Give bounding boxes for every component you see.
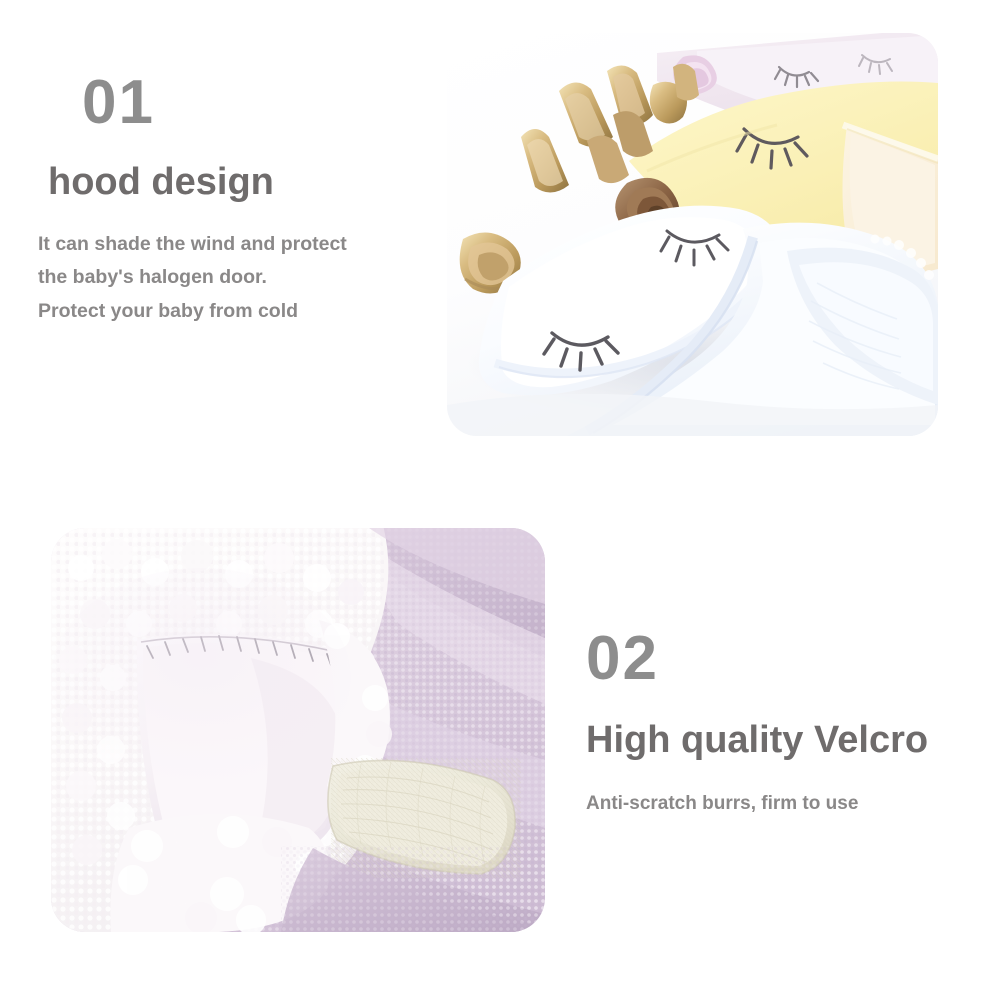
hood-design-photo <box>447 33 938 436</box>
section-01-number: 01 <box>82 72 448 134</box>
section-02-heading: High quality Velcro <box>586 720 986 762</box>
product-feature-page: 01 hood design It can shade the wind and… <box>0 0 1000 1000</box>
section-01-body-line-1: It can shade the wind and protect <box>38 228 448 262</box>
section-01-body-line-3: Protect your baby from cold <box>38 295 448 329</box>
feature-section-02: 02 High quality Velcro Anti-scratch burr… <box>586 628 986 820</box>
section-02-number: 02 <box>586 628 986 690</box>
section-01-heading: hood design <box>48 162 448 204</box>
section-01-body-line-2: the baby's halogen door. <box>38 261 448 295</box>
hood-design-illustration <box>447 33 938 436</box>
section-01-body: It can shade the wind and protect the ba… <box>38 228 448 329</box>
section-02-body-line-1: Anti-scratch burrs, firm to use <box>586 788 986 821</box>
section-02-body: Anti-scratch burrs, firm to use <box>586 788 986 821</box>
velcro-closeup-illustration <box>51 528 545 932</box>
feature-section-01: 01 hood design It can shade the wind and… <box>38 72 448 328</box>
velcro-closeup-photo <box>51 528 545 932</box>
